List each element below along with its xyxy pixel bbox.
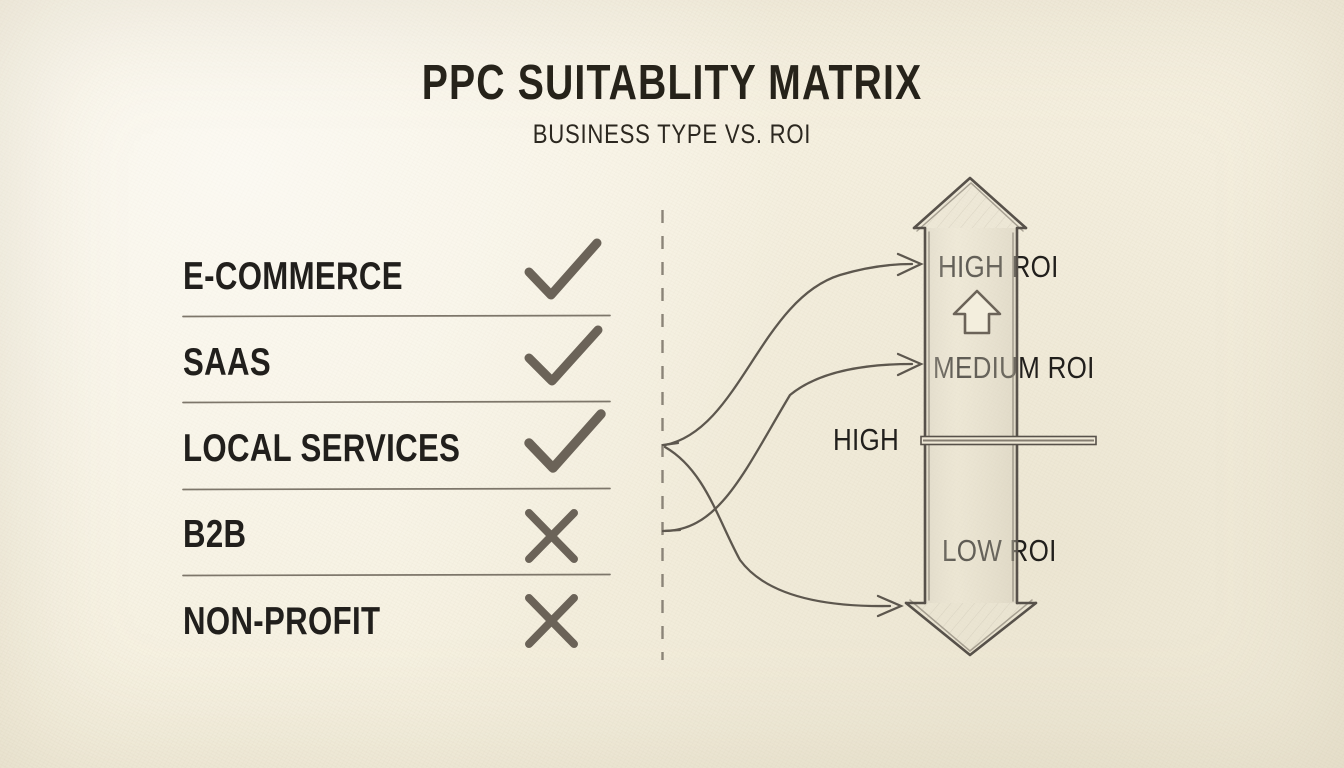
sketch-layer <box>0 0 1344 768</box>
high-threshold-line <box>921 437 1096 445</box>
row-separator <box>183 402 610 403</box>
cross-icon <box>529 598 574 644</box>
connector-group <box>663 254 921 616</box>
check-icon <box>529 243 597 295</box>
check-icon <box>529 330 598 381</box>
row-separator <box>183 316 610 317</box>
cross-icon <box>529 513 574 559</box>
check-marks-group <box>529 243 601 468</box>
connector-stub <box>663 443 678 445</box>
connector-to-medium-roi <box>665 364 912 531</box>
connector-stub <box>663 530 680 531</box>
connector-to-low-roi <box>665 447 890 606</box>
row-separator <box>183 489 610 490</box>
check-icon <box>529 414 601 468</box>
row-separator <box>183 575 610 576</box>
diagram-canvas: PPC SUITABLITY MATRIX BUSINESS TYPE VS. … <box>0 0 1344 768</box>
connector-to-high-roi <box>665 264 912 445</box>
cross-marks-group <box>529 513 574 644</box>
double-headed-vertical-arrow <box>906 178 1036 655</box>
